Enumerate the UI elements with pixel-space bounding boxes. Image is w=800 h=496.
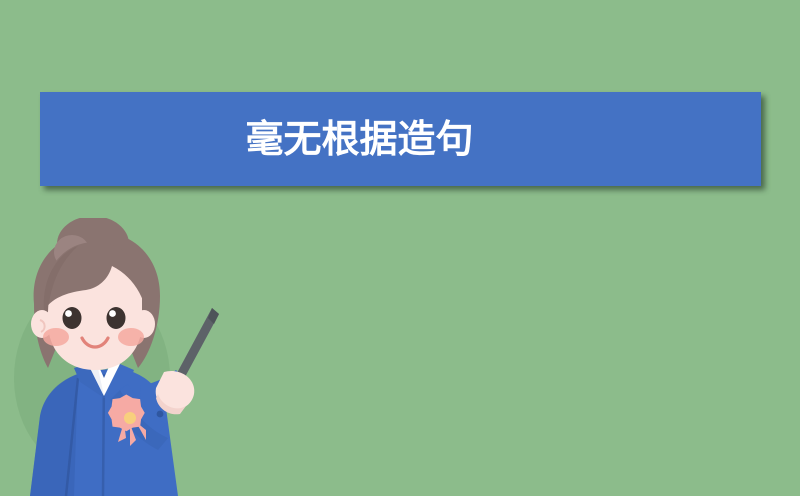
poster-canvas: 毫无根据造句 — [0, 0, 800, 496]
page-title: 毫无根据造句 — [245, 120, 473, 158]
title-banner: 毫无根据造句 — [40, 92, 761, 186]
hand — [156, 371, 195, 414]
teacher-illustration — [0, 218, 260, 496]
